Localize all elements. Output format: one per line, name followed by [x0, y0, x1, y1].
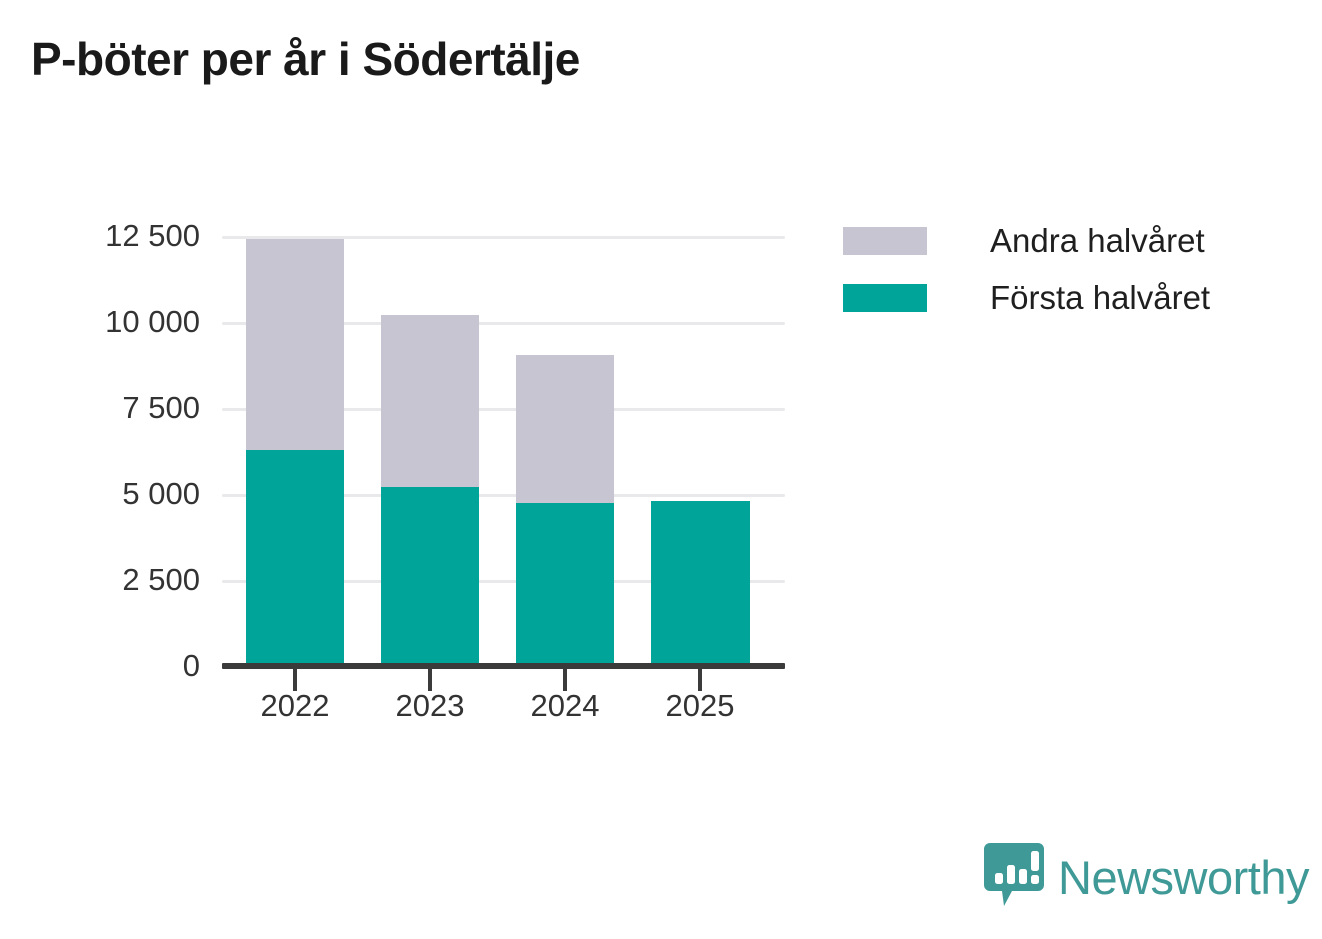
- bar-2023-forsta-halvaret[interactable]: [381, 487, 479, 666]
- x-tick-label-2025: 2025: [640, 688, 760, 724]
- newsworthy-logo[interactable]: Newsworthy: [984, 843, 1309, 911]
- bar-2023-andra-halvaret[interactable]: [381, 315, 479, 487]
- bar-2025-forsta-halvaret[interactable]: [651, 501, 750, 666]
- x-tick-label-2023: 2023: [370, 688, 490, 724]
- legend-item-forsta-halvaret[interactable]: Första halvåret: [843, 269, 1210, 326]
- legend-swatch-andra-halvaret: [843, 227, 927, 255]
- newsworthy-bars-speech-bubble-icon: [984, 843, 1044, 911]
- y-tick-label-5000: 5 000: [122, 476, 200, 512]
- x-tick-label-2022: 2022: [235, 688, 355, 724]
- x-tick-label-2024: 2024: [505, 688, 625, 724]
- plot-area: [222, 236, 785, 666]
- legend-label-forsta-halvaret: Första halvåret: [990, 279, 1210, 317]
- bar-2022-andra-halvaret[interactable]: [246, 239, 344, 450]
- bar-2022-forsta-halvaret[interactable]: [246, 450, 344, 666]
- y-tick-label-0: 0: [183, 648, 200, 684]
- newsworthy-wordmark: Newsworthy: [1058, 850, 1309, 905]
- bar-2024-forsta-halvaret[interactable]: [516, 503, 614, 666]
- y-tick-label-12500: 12 500: [105, 218, 200, 254]
- chart-legend: Andra halvåret Första halvåret: [843, 212, 1210, 326]
- bar-2024-andra-halvaret[interactable]: [516, 355, 614, 503]
- y-axis-labels: 12 500 10 000 7 500 5 000 2 500 0: [0, 0, 200, 939]
- legend-item-andra-halvaret[interactable]: Andra halvåret: [843, 212, 1210, 269]
- y-tick-label-10000: 10 000: [105, 304, 200, 340]
- legend-swatch-forsta-halvaret: [843, 284, 927, 312]
- legend-label-andra-halvaret: Andra halvåret: [990, 222, 1205, 260]
- y-tick-label-7500: 7 500: [122, 390, 200, 426]
- y-tick-label-2500: 2 500: [122, 562, 200, 598]
